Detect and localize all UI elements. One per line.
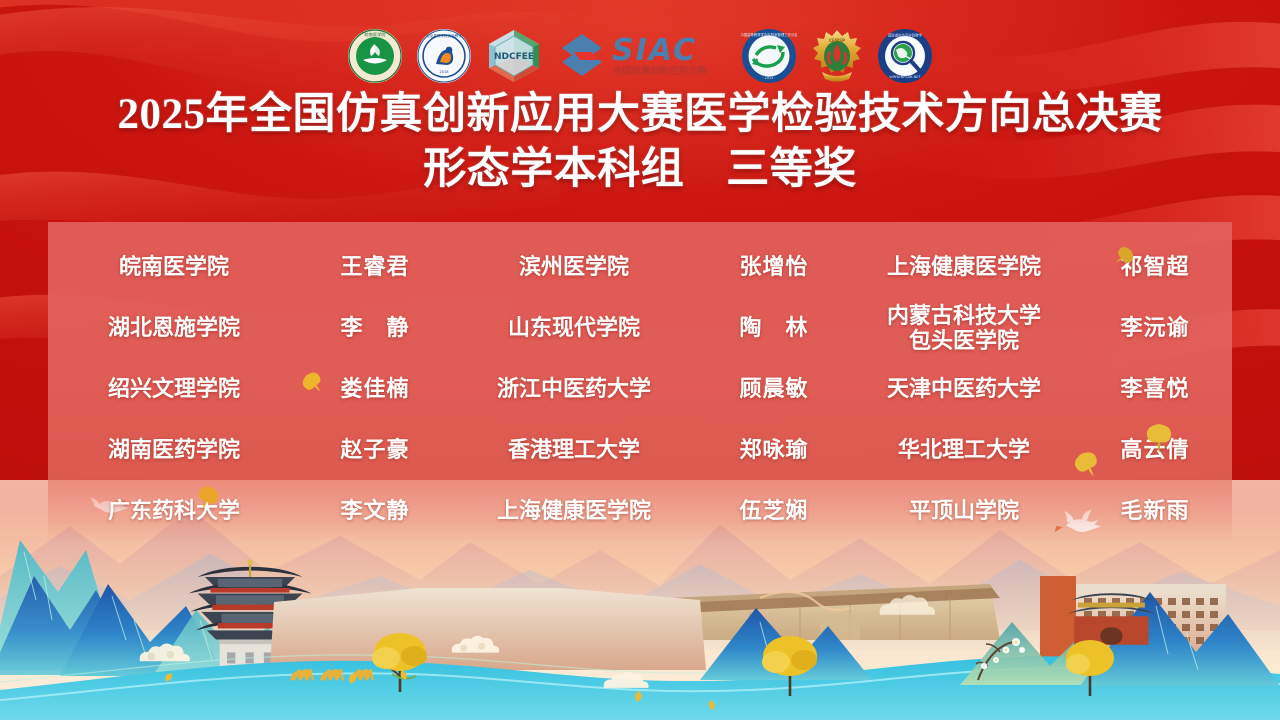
- cell-name: 毛新雨: [1078, 498, 1232, 524]
- title-line-2: 形态学本科组三等奖: [0, 144, 1280, 196]
- cell-name: 娄佳楠: [300, 376, 450, 402]
- cell-name: 王睿君: [300, 254, 450, 280]
- cell-name: 郑咏瑜: [698, 437, 850, 463]
- cell-school: 上海健康医学院: [450, 498, 698, 524]
- cell-name: 陶 林: [698, 315, 850, 341]
- cell-name: 祁智超: [1078, 254, 1232, 280]
- cell-school: 湖北恩施学院: [48, 315, 300, 341]
- cell-school: 皖南医学院: [48, 254, 300, 280]
- svg-text:· 2013 ·: · 2013 ·: [763, 76, 776, 80]
- winners-table: 皖南医学院 王睿君 滨州医学院 张增怡 上海健康医学院 祁智超 湖北恩施学院 李…: [48, 222, 1232, 542]
- svg-text:皖南医学院: 皖南医学院: [365, 31, 387, 38]
- siac-logo: SIAC 全国仿真创新应用大赛: [556, 28, 728, 84]
- cell-school: 山东现代学院: [450, 315, 698, 341]
- cell-school: 平顶山学院: [850, 498, 1078, 524]
- green-circle-association-logo: 中国高等教育学会实验室管理工作分会 · 2013 ·: [741, 28, 797, 84]
- svg-text:WWW.NPLAB.NET: WWW.NPLAB.NET: [889, 75, 921, 79]
- svg-text:中国高等教育学会实验室管理工作分会: 中国高等教育学会实验室管理工作分会: [741, 32, 797, 37]
- cell-name: 李文静: [300, 498, 450, 524]
- cell-school: 浙江中医药大学: [450, 376, 698, 402]
- svg-text:北京高等学校实验教学: 北京高等学校实验教学: [426, 33, 462, 38]
- beijing-education-lab-logo: 2018 北京高等学校实验教学: [416, 28, 472, 84]
- svg-text:全国仿真创新应用大赛: 全国仿真创新应用大赛: [612, 65, 707, 77]
- cell-name: 李 静: [300, 315, 450, 341]
- ndcfee-logo: NDCFEE: [485, 28, 543, 84]
- title-award-label: 三等奖: [726, 146, 857, 193]
- cell-school: 上海健康医学院: [850, 254, 1078, 280]
- cell-name: 顾晨敏: [698, 376, 850, 402]
- cell-name: 伍芝娴: [698, 498, 850, 524]
- wannan-medical-college-logo: 皖南医学院: [347, 28, 403, 84]
- cell-school: 绍兴文理学院: [48, 376, 300, 402]
- cell-school: 滨州医学院: [450, 254, 698, 280]
- svg-text:国家虚拟仿真实验教学: 国家虚拟仿真实验教学: [888, 33, 923, 38]
- table-row: 广东药科大学 李文静 上海健康医学院 伍芝娴 平顶山学院 毛新雨: [48, 481, 1232, 542]
- svg-text:CEIPSP: CEIPSP: [829, 38, 845, 43]
- table-row: 绍兴文理学院 娄佳楠 浙江中医药大学 顾晨敏 天津中医药大学 李喜悦: [48, 358, 1232, 419]
- cell-school: 广东药科大学: [48, 498, 300, 524]
- slide-canvas: 皖南医学院 2018 北京高等学校实验教学: [0, 0, 1280, 720]
- cell-name: 李喜悦: [1078, 376, 1232, 402]
- cell-name: 张增怡: [698, 254, 850, 280]
- page-title: 2025年全国仿真创新应用大赛医学检验技术方向总决赛 形态学本科组三等奖: [0, 90, 1280, 196]
- sponsor-logo-bar: 皖南医学院 2018 北京高等学校实验教学: [0, 26, 1280, 86]
- table-row: 湖南医药学院 赵子豪 香港理工大学 郑咏瑜 华北理工大学 高云倩: [48, 420, 1232, 481]
- table-row: 皖南医学院 王睿君 滨州医学院 张增怡 上海健康医学院 祁智超: [48, 236, 1232, 297]
- cell-name: 赵子豪: [300, 437, 450, 463]
- cell-name: 高云倩: [1078, 437, 1232, 463]
- svg-text:2018: 2018: [439, 70, 449, 74]
- svg-text:SIAC: SIAC: [612, 33, 697, 68]
- nplab-net-logo: 国家虚拟仿真实验教学 WWW.NPLAB.NET: [877, 28, 933, 84]
- cell-school: 香港理工大学: [450, 437, 698, 463]
- table-row: 湖北恩施学院 李 静 山东现代学院 陶 林 内蒙古科技大学包头医学院 李沅谕: [48, 297, 1232, 358]
- cell-name: 李沅谕: [1078, 315, 1232, 341]
- title-line-1: 2025年全国仿真创新应用大赛医学检验技术方向总决赛: [0, 90, 1280, 140]
- cell-school: 天津中医药大学: [850, 376, 1078, 402]
- golden-crest-logo: CEIPSP: [810, 28, 864, 84]
- title-group-label: 形态学本科组: [423, 146, 684, 193]
- svg-text:NDCFEE: NDCFEE: [494, 52, 534, 62]
- cell-school: 华北理工大学: [850, 437, 1078, 463]
- cell-school: 湖南医药学院: [48, 437, 300, 463]
- cell-school: 内蒙古科技大学包头医学院: [850, 303, 1078, 353]
